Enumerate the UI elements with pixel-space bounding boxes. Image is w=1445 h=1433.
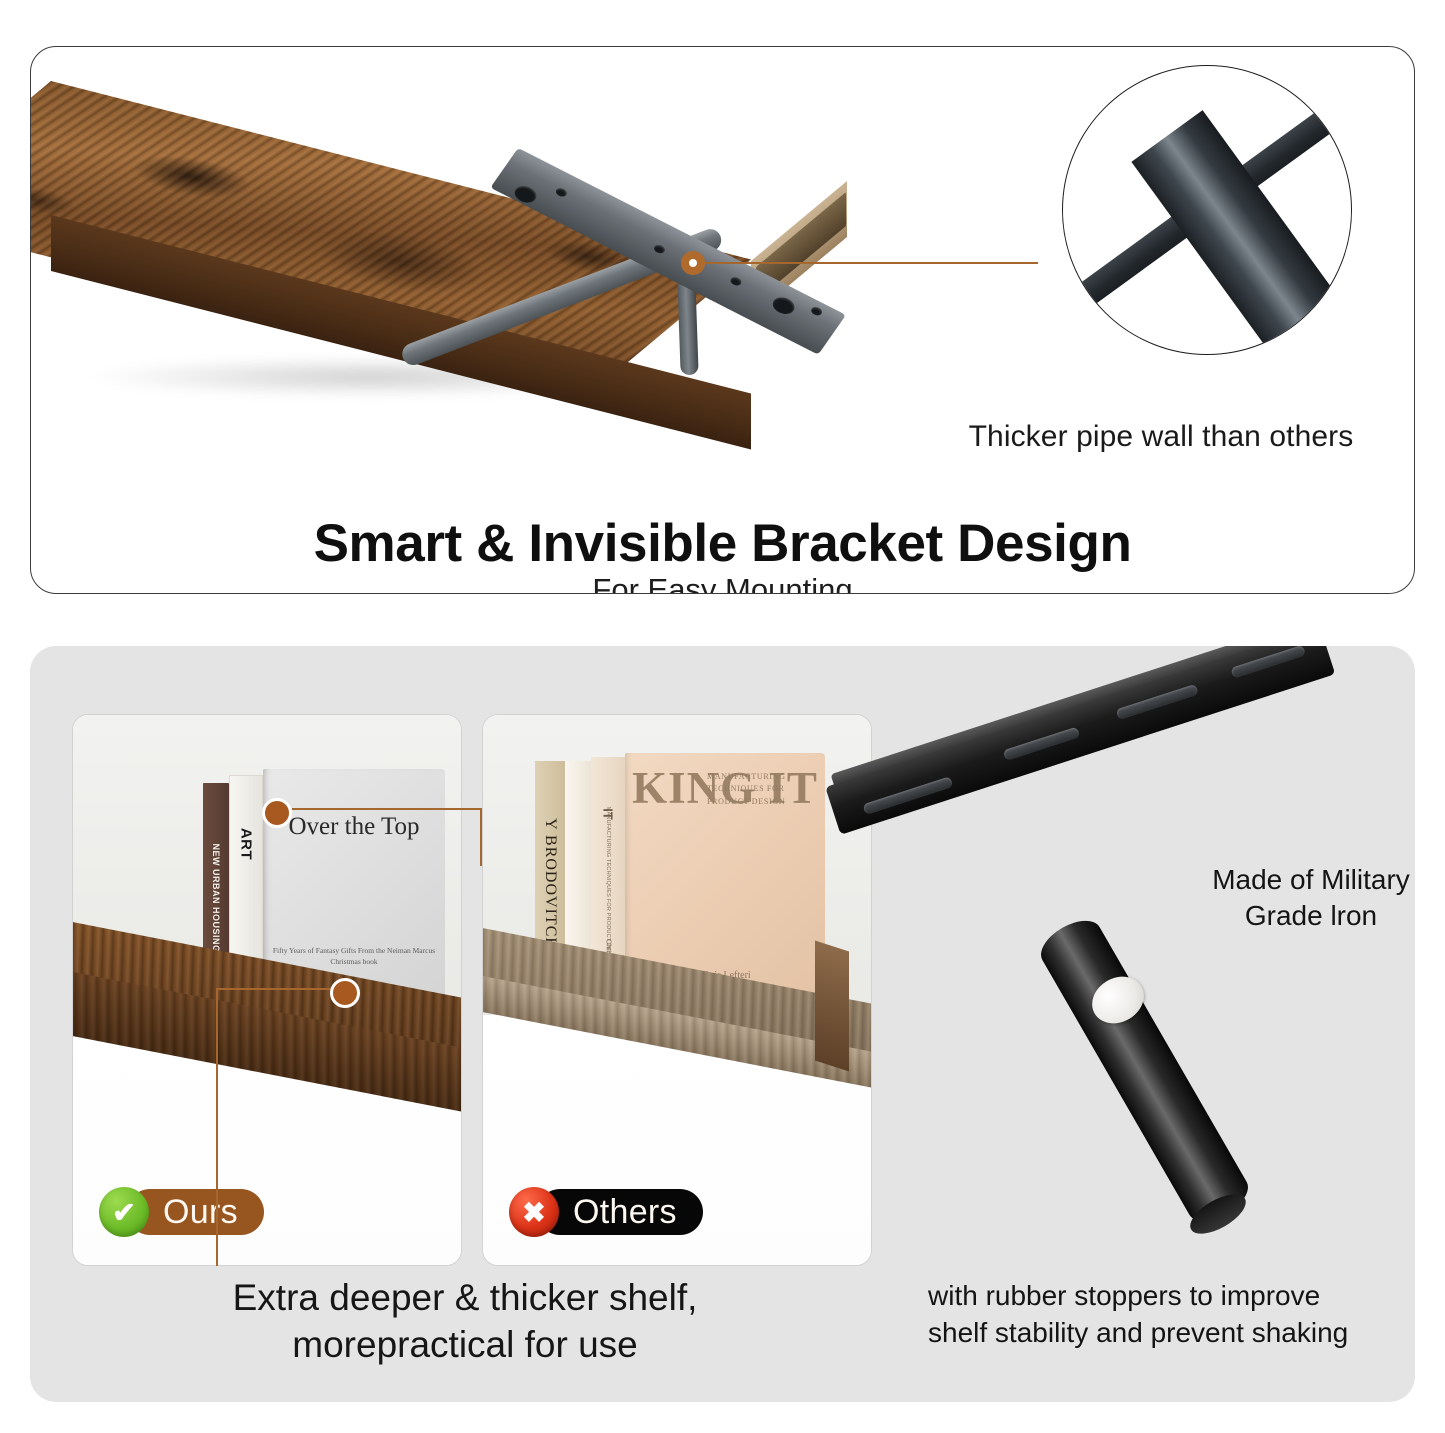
- callout-label-rubber-stoppers: with rubber stoppers to improve shelf st…: [928, 1278, 1440, 1352]
- bracket-design-panel: Thicker pipe wall than others Smart & In…: [30, 46, 1415, 594]
- badge-others-label: Others: [537, 1189, 703, 1235]
- cross-icon: ✖: [509, 1187, 559, 1237]
- callout-line-rubber-v: [216, 988, 218, 1266]
- rubber-line-2: shelf stability and prevent shaking: [928, 1315, 1440, 1352]
- panel-subheadline: For Easy Mounting: [31, 572, 1414, 594]
- bracket-slot-4: [1230, 646, 1306, 679]
- bracket-slot-1: [862, 776, 953, 815]
- bracket-hole-large-2: [769, 294, 798, 317]
- pipe-wall-magnifier: [1062, 65, 1352, 355]
- military-line-1: Made of Military: [1186, 862, 1436, 898]
- badge-ours: ✔ Ours: [99, 1187, 264, 1237]
- others-scene: Y BRODOVITCH IT MANUFACTURING TECHNIQUES…: [483, 715, 871, 1265]
- rubber-line-1: with rubber stoppers to improve: [928, 1278, 1440, 1315]
- bracket-hole-small-1: [554, 187, 568, 199]
- military-line-2: Grade lron: [1186, 898, 1436, 934]
- bracket-hole-small-3: [729, 276, 743, 288]
- shelf-edge-sliver: [815, 940, 849, 1071]
- callout-line-rubber-h: [216, 988, 334, 990]
- callout-dot-military-grade: [262, 798, 292, 828]
- comparison-card-ours: NEW URBAN HOUSING ART Over the Top Fifty…: [72, 714, 462, 1266]
- comparison-card-others: Y BRODOVITCH IT MANUFACTURING TECHNIQUES…: [482, 714, 872, 1266]
- shelf-with-bracket-illustration: [31, 47, 851, 467]
- check-icon: ✔: [99, 1187, 149, 1237]
- bracket-slot-2: [1003, 727, 1081, 762]
- bracket-rail: [825, 646, 1335, 835]
- callout-connector-line: [703, 262, 1038, 264]
- bracket-hole-small-2: [652, 243, 666, 255]
- panel-headline: Smart & Invisible Bracket Design: [31, 513, 1414, 574]
- bracket-round-tube: [1033, 912, 1255, 1231]
- badge-others: ✖ Others: [509, 1187, 703, 1237]
- bracket-vertical-rod: [677, 279, 698, 376]
- ours-scene: NEW URBAN HOUSING ART Over the Top Fifty…: [73, 715, 461, 1265]
- caption-line-1: Extra deeper & thicker shelf,: [40, 1274, 890, 1321]
- bracket-hole-small-4: [809, 305, 823, 317]
- callout-dot-rubber-stoppers: [330, 978, 360, 1008]
- comparison-caption: Extra deeper & thicker shelf, morepracti…: [40, 1274, 890, 1369]
- callout-label-military-grade: Made of Military Grade lron: [1186, 862, 1436, 935]
- callout-line-military-v: [480, 808, 482, 866]
- thicker-pipe-label: Thicker pipe wall than others: [911, 420, 1411, 454]
- caption-line-2: morepractical for use: [40, 1321, 890, 1368]
- callout-marker-dot: [681, 251, 705, 275]
- callout-line-military-h: [292, 808, 482, 810]
- bracket-slot-3: [1116, 684, 1199, 720]
